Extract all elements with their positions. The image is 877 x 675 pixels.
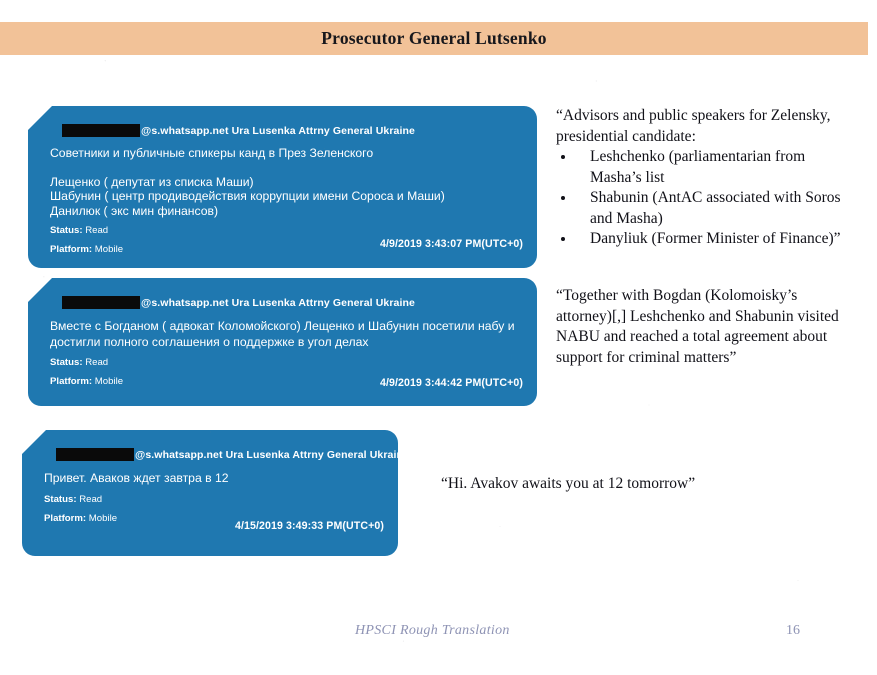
chat-message-bubble: @s.whatsapp.net Ura Lusenka Attrny Gener… (28, 278, 537, 406)
message-body: Вместе с Богданом ( адвокат Коломойского… (50, 319, 523, 350)
list-item: Danyliuk (Former Minister of Finance)” (556, 229, 856, 250)
message-timestamp: 4/9/2019 3:43:07 PM(UTC+0) (380, 238, 523, 250)
redaction-bar (62, 124, 140, 137)
bullet-dot-icon (561, 196, 565, 200)
page-number: 16 (786, 623, 800, 639)
sender-identifier: @s.whatsapp.net Ura Lusenka Attrny Gener… (141, 297, 415, 309)
redaction-bar (56, 448, 134, 461)
platform-value: Mobile (89, 513, 117, 524)
message-timestamp: 4/9/2019 3:44:42 PM(UTC+0) (380, 377, 523, 389)
message-sender-line: @s.whatsapp.net Ura Lusenka Attrny Gener… (62, 124, 523, 137)
chat-message-bubble: @s.whatsapp.net Ura Lusenka Attrny Gener… (28, 106, 537, 268)
translation-block: “Advisors and public speakers for Zelens… (556, 106, 856, 250)
list-item-label: Leshchenko (parliamentarian from Masha’s… (590, 148, 805, 186)
translation-block: “Together with Bogdan (Kolomoisky’s atto… (556, 286, 856, 368)
status-value: Read (79, 494, 102, 505)
translation-intro: “Advisors and public speakers for Zelens… (556, 106, 856, 147)
footer-note: HPSCI Rough Translation (355, 623, 510, 639)
translation-bullet-list: Leshchenko (parliamentarian from Masha’s… (556, 147, 856, 250)
status-label: Status: (50, 357, 83, 368)
sender-identifier: @s.whatsapp.net Ura Lusenka Attrny Gener… (141, 125, 415, 137)
message-sender-line: @s.whatsapp.net Ura Lusenka Attrny Gener… (62, 296, 523, 309)
platform-label: Platform: (50, 376, 92, 387)
platform-value: Mobile (95, 244, 123, 255)
redaction-bar (62, 296, 140, 309)
message-content: @s.whatsapp.net Ura Lusenka Attrny Gener… (22, 430, 398, 556)
platform-label: Platform: (44, 513, 86, 524)
list-item-label: Danyliuk (Former Minister of Finance)” (590, 230, 841, 247)
platform-label: Platform: (50, 244, 92, 255)
platform-value: Mobile (95, 376, 123, 387)
translation-text: “Together with Bogdan (Kolomoisky’s atto… (556, 286, 856, 368)
list-item: Shabunin (AntAC associated with Soros an… (556, 188, 856, 229)
message-content: @s.whatsapp.net Ura Lusenka Attrny Gener… (28, 278, 537, 406)
message-status: Status: Read (50, 356, 523, 369)
message-sender-line: @s.whatsapp.net Ura Lusenka Attrny Gener… (56, 448, 384, 461)
message-body-list: Лещенко ( депутат из списка Маши) Шабуни… (50, 175, 523, 219)
sender-identifier: @s.whatsapp.net Ura Lusenka Attrny Gener… (135, 449, 409, 461)
bullet-dot-icon (561, 155, 565, 159)
status-label: Status: (50, 225, 83, 236)
message-timestamp: 4/15/2019 3:49:33 PM(UTC+0) (235, 520, 384, 532)
status-value: Read (85, 225, 108, 236)
chat-message-bubble: @s.whatsapp.net Ura Lusenka Attrny Gener… (22, 430, 398, 556)
list-item-label: Shabunin (AntAC associated with Soros an… (590, 189, 841, 227)
message-content: @s.whatsapp.net Ura Lusenka Attrny Gener… (28, 106, 537, 268)
translation-text: “Hi. Avakov awaits you at 12 tomorrow” (441, 474, 741, 495)
message-body: Советники и публичные спикеры канд в Пре… (50, 146, 523, 162)
page-title: Prosecutor General Lutsenko (321, 28, 546, 49)
status-value: Read (85, 357, 108, 368)
list-item: Leshchenko (parliamentarian from Masha’s… (556, 147, 856, 188)
translation-block: “Hi. Avakov awaits you at 12 tomorrow” (441, 474, 741, 495)
page-title-banner: Prosecutor General Lutsenko (0, 22, 868, 55)
bullet-dot-icon (561, 237, 565, 241)
status-label: Status: (44, 494, 77, 505)
message-body: Привет. Аваков ждет завтра в 12 (44, 471, 384, 487)
message-status: Status: Read (50, 224, 523, 237)
message-status: Status: Read (44, 493, 384, 506)
